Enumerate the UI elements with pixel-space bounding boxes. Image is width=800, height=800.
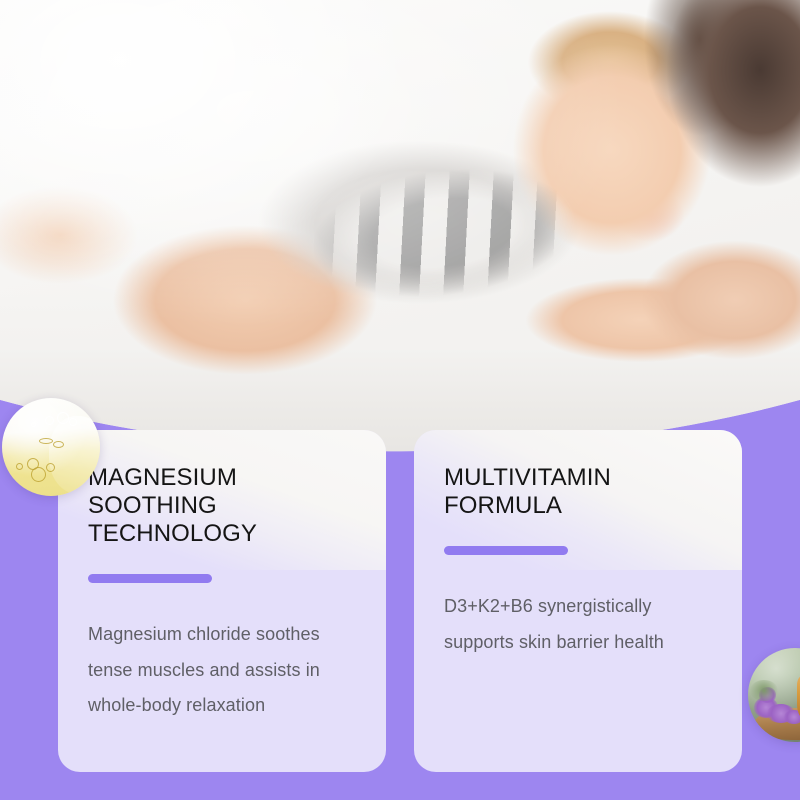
accent-divider-bar (444, 546, 568, 555)
leaf-icon (750, 680, 778, 701)
card-title: MULTIVITAMIN FORMULA (444, 464, 712, 520)
card-content: MAGNESIUM SOOTHING TECHNOLOGY Magnesium … (88, 464, 356, 724)
accent-divider-bar (88, 574, 212, 583)
bubble-icon (69, 418, 77, 426)
bubble-icon (46, 463, 55, 472)
card-title: MAGNESIUM SOOTHING TECHNOLOGY (88, 464, 356, 548)
magnesium-oil-droplet-icon (2, 398, 100, 496)
feature-card-multivitamin[interactable]: MULTIVITAMIN FORMULA D3+K2+B6 synergisti… (414, 430, 742, 772)
card-content: MULTIVITAMIN FORMULA D3+K2+B6 synergisti… (444, 464, 712, 660)
hero-photo-container (0, 0, 800, 470)
card-body-text: D3+K2+B6 synergistically supports skin b… (444, 589, 712, 660)
feature-card-magnesium[interactable]: MAGNESIUM SOOTHING TECHNOLOGY Magnesium … (58, 430, 386, 772)
oil-sheen-highlight (49, 416, 100, 494)
bubble-icon (57, 412, 69, 424)
bubble-icon (16, 463, 23, 470)
hero-baby-photo (0, 0, 800, 470)
lavender-essential-oil-icon (748, 648, 800, 742)
card-body-text: Magnesium chloride soothes tense muscles… (88, 617, 356, 724)
product-feature-banner: MAGNESIUM SOOTHING TECHNOLOGY Magnesium … (0, 0, 800, 800)
hero-soft-light-overlay (0, 0, 800, 470)
bubble-icon (31, 422, 36, 427)
bubble-icon (45, 416, 54, 425)
bubble-icon (31, 467, 46, 482)
